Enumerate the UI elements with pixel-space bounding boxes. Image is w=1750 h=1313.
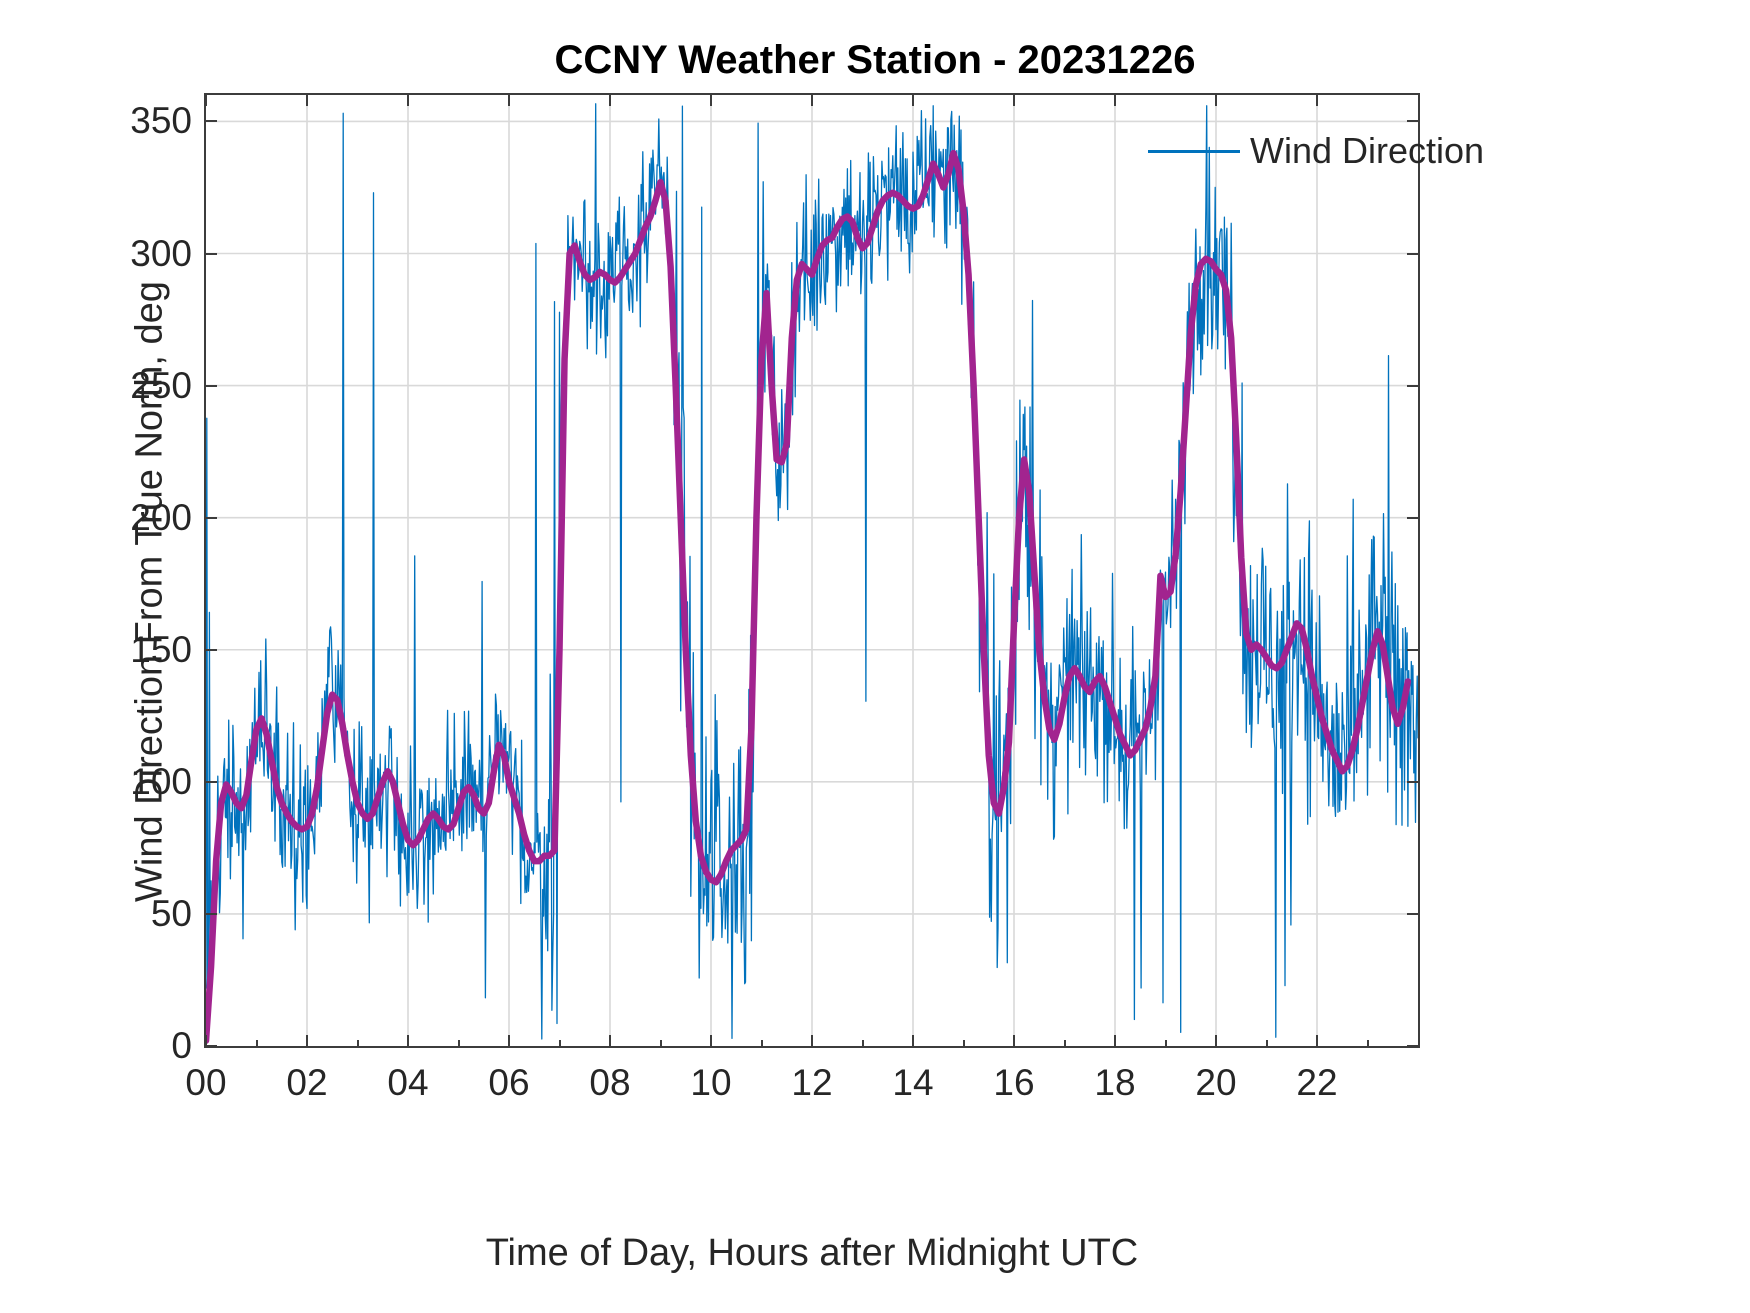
x-tick-label: 06 — [488, 1062, 529, 1104]
x-minor-tick-mark — [458, 1040, 460, 1048]
y-tick-mark-right — [1407, 517, 1420, 519]
x-minor-tick-mark — [660, 1040, 662, 1048]
x-minor-tick-mark — [963, 1040, 965, 1048]
y-tick-mark-right — [1407, 649, 1420, 651]
x-tick-mark-top — [306, 93, 308, 106]
x-tick-label: 08 — [589, 1062, 630, 1104]
x-tick-mark — [205, 1035, 207, 1048]
x-tick-mark — [1316, 1035, 1318, 1048]
x-tick-label: 12 — [791, 1062, 832, 1104]
y-tick-mark — [204, 120, 217, 122]
x-tick-mark — [609, 1035, 611, 1048]
y-tick-mark-right — [1407, 1045, 1420, 1047]
x-tick-mark — [306, 1035, 308, 1048]
x-tick-mark-top — [1114, 93, 1116, 106]
x-tick-mark — [508, 1035, 510, 1048]
y-tick-mark — [204, 253, 217, 255]
x-axis-title: Time of Day, Hours after Midnight UTC — [204, 1232, 1420, 1275]
x-tick-mark — [811, 1035, 813, 1048]
x-tick-mark-top — [508, 93, 510, 106]
y-tick-mark-right — [1407, 781, 1420, 783]
legend-label-wind-direction: Wind Direction — [1250, 130, 1484, 172]
x-tick-mark — [1114, 1035, 1116, 1048]
x-tick-label: 20 — [1195, 1062, 1236, 1104]
x-minor-tick-mark — [1266, 1040, 1268, 1048]
x-tick-label: 00 — [185, 1062, 226, 1104]
y-tick-mark-right — [1407, 120, 1420, 122]
x-tick-mark-top — [205, 93, 207, 106]
x-tick-mark-top — [1013, 93, 1015, 106]
x-minor-tick-mark — [862, 1040, 864, 1048]
y-tick-mark — [204, 781, 217, 783]
x-tick-mark — [1013, 1035, 1015, 1048]
x-tick-mark-top — [1215, 93, 1217, 106]
y-tick-mark — [204, 913, 217, 915]
x-minor-tick-mark — [256, 1040, 258, 1048]
y-tick-label: 350 — [130, 100, 192, 142]
y-tick-mark — [204, 517, 217, 519]
x-tick-label: 10 — [690, 1062, 731, 1104]
x-tick-label: 18 — [1094, 1062, 1135, 1104]
plot-svg — [206, 95, 1418, 1046]
x-tick-mark — [1215, 1035, 1217, 1048]
x-minor-tick-mark — [1165, 1040, 1167, 1048]
series-wind-direction-smoothed — [206, 153, 1408, 1041]
x-minor-tick-mark — [357, 1040, 359, 1048]
x-minor-tick-mark — [1064, 1040, 1066, 1048]
y-tick-mark — [204, 385, 217, 387]
y-tick-mark-right — [1407, 253, 1420, 255]
y-tick-mark — [204, 649, 217, 651]
gridlines — [206, 95, 1418, 1046]
x-tick-mark — [407, 1035, 409, 1048]
x-tick-label: 02 — [286, 1062, 327, 1104]
page-title: CCNY Weather Station - 20231226 — [0, 38, 1750, 83]
x-tick-mark-top — [1316, 93, 1318, 106]
x-tick-mark — [912, 1035, 914, 1048]
x-tick-label: 22 — [1296, 1062, 1337, 1104]
x-tick-label: 16 — [993, 1062, 1034, 1104]
y-axis-title: Wind Direction From True North, deg — [129, 142, 172, 1042]
x-tick-label: 04 — [387, 1062, 428, 1104]
y-tick-mark-right — [1407, 913, 1420, 915]
x-tick-mark-top — [407, 93, 409, 106]
x-tick-mark — [710, 1035, 712, 1048]
x-minor-tick-mark — [1367, 1040, 1369, 1048]
legend[interactable]: Wind Direction — [1148, 120, 1416, 182]
x-tick-mark-top — [609, 93, 611, 106]
figure-canvas: CCNY Weather Station - 20231226 Wind Dir… — [0, 0, 1750, 1313]
x-tick-label: 14 — [892, 1062, 933, 1104]
y-tick-mark-right — [1407, 385, 1420, 387]
legend-swatch-wind-direction — [1148, 150, 1240, 153]
x-minor-tick-mark — [761, 1040, 763, 1048]
y-tick-label: 0 — [171, 1025, 192, 1067]
x-tick-mark-top — [710, 93, 712, 106]
x-tick-mark-top — [912, 93, 914, 106]
x-minor-tick-mark — [559, 1040, 561, 1048]
plot-area[interactable] — [204, 93, 1420, 1048]
x-tick-mark-top — [811, 93, 813, 106]
